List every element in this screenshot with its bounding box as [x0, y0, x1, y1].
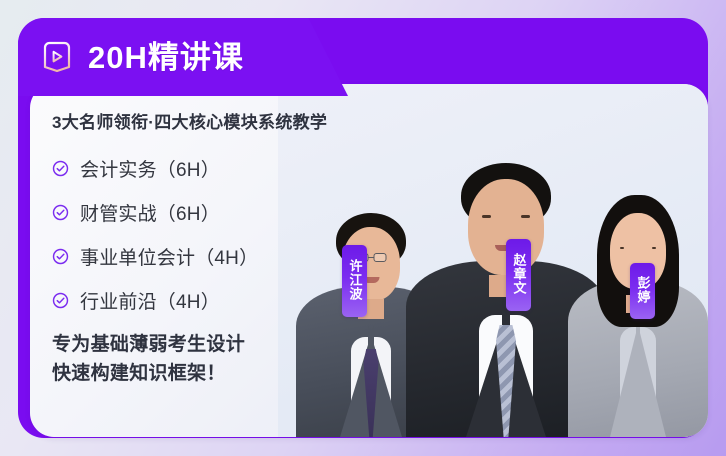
- list-item: 会计实务（6H）: [52, 155, 382, 182]
- teacher-right: 彭婷: [568, 167, 708, 437]
- eye-right: [521, 215, 530, 218]
- teacher-name-tag: 赵章文: [506, 239, 531, 311]
- header-title: 20H精讲课: [88, 42, 244, 73]
- check-circle-icon: [52, 160, 69, 177]
- course-details: 3大名师领衔·四大核心模块系统教学 会计实务（6H）: [52, 108, 382, 388]
- list-item-label: 财管实战（6H）: [80, 199, 220, 226]
- eye-right: [652, 247, 656, 249]
- check-circle-icon: [52, 204, 69, 221]
- course-header-tab: 20H精讲课: [18, 18, 348, 96]
- course-info-card: 许江波 赵章文: [30, 84, 708, 437]
- list-item-label: 会计实务（6H）: [80, 155, 220, 182]
- check-circle-icon: [52, 292, 69, 309]
- check-circle-icon: [52, 248, 69, 265]
- video-play-icon: [40, 39, 74, 75]
- promo-banner: 许江波 赵章文: [0, 0, 726, 456]
- tagline-line-1: 专为基础薄弱考生设计: [52, 331, 382, 360]
- list-item-label: 行业前沿（4H）: [80, 287, 220, 314]
- list-item: 财管实战（6H）: [52, 199, 382, 226]
- eye-left: [482, 215, 491, 218]
- tagline-line-2: 快速构建知识框架！: [52, 360, 382, 389]
- list-item-label: 事业单位会计（4H）: [80, 243, 258, 270]
- list-item: 行业前沿（4H）: [52, 287, 382, 314]
- list-item: 事业单位会计（4H）: [52, 243, 382, 270]
- module-list: 会计实务（6H） 财管实战（6H）: [52, 155, 382, 314]
- teacher-name-tag: 彭婷: [630, 263, 655, 319]
- course-subtitle: 3大名师领衔·四大核心模块系统教学: [52, 108, 382, 133]
- tagline: 专为基础薄弱考生设计 快速构建知识框架！: [52, 331, 382, 388]
- eye-left: [620, 247, 624, 249]
